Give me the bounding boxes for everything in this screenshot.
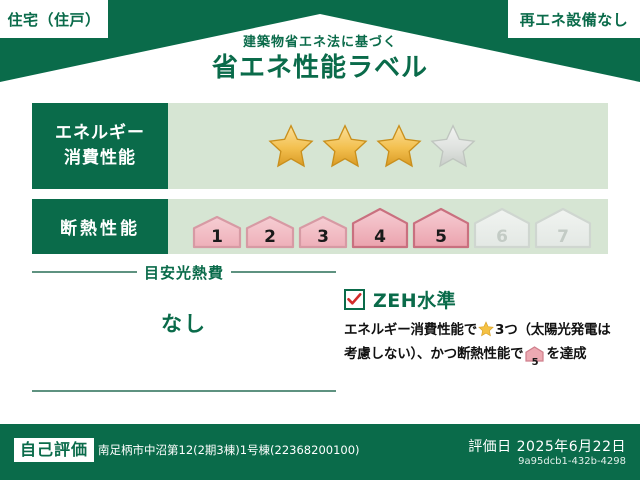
- renewable-energy-tag-label: 再エネ設備なし: [520, 9, 629, 30]
- inline-grade-badge: 5: [525, 346, 544, 369]
- energy-performance-label: 住宅（住戸） 再エネ設備なし 建築物省エネ法に基づく 省エネ性能ラベル エネルギ…: [0, 0, 640, 480]
- insulation-grade-value: 4: [351, 229, 409, 246]
- star-empty-icon: [430, 123, 476, 169]
- energy-performance-label-box: エネルギー 消費性能: [32, 103, 168, 189]
- utility-cost-bottom-rule: [32, 390, 336, 392]
- title-subtitle: 建築物省エネ法に基づく: [0, 36, 640, 50]
- page-title: 建築物省エネ法に基づく 省エネ性能ラベル: [0, 36, 640, 83]
- insulation-label: 断熱性能: [60, 214, 140, 239]
- insulation-grade-2: 2: [245, 215, 295, 249]
- insulation-performance-panel: 断熱性能 1234567: [32, 199, 608, 254]
- building-type-tag: 住宅（住戸）: [0, 0, 108, 38]
- star-filled-icon: [322, 123, 368, 169]
- insulation-grade-6: 6: [473, 207, 531, 249]
- insulation-grade-value: 2: [245, 229, 295, 246]
- energy-label-line2: 消費性能: [64, 146, 136, 171]
- insulation-grade-1: 1: [192, 215, 242, 249]
- renewable-energy-tag: 再エネ設備なし: [508, 0, 640, 38]
- self-evaluation-badge: 自己評価: [14, 438, 94, 462]
- insulation-grade-value: 5: [412, 229, 470, 246]
- heading-rule-left: [32, 271, 137, 273]
- zeh-desc-part1: エネルギー消費性能で: [344, 322, 477, 338]
- footer-bar: 自己評価 南足柄市中沼第12(2期3棟)1号棟(22368200100) 評価日…: [0, 424, 640, 480]
- zeh-checkbox: [344, 289, 365, 310]
- star-rating: [268, 123, 476, 169]
- insulation-grade-value: 7: [534, 229, 592, 246]
- zeh-heading: ZEH水準: [344, 286, 616, 313]
- insulation-grade-value: 1: [192, 229, 242, 246]
- utility-cost-heading-label: 目安光熱費: [144, 262, 224, 283]
- insulation-grade-scale: 1234567: [192, 199, 592, 254]
- insulation-grade-4: 4: [351, 207, 409, 249]
- insulation-grade-7: 7: [534, 207, 592, 249]
- title-main: 省エネ性能ラベル: [0, 54, 640, 83]
- zeh-title: ZEH水準: [373, 286, 456, 313]
- insulation-grade-value: 6: [473, 229, 531, 246]
- evaluation-id: 9a95dcb1-432b-4298: [518, 456, 626, 467]
- insulation-grade-3: 3: [298, 215, 348, 249]
- insulation-grade-value: 3: [298, 229, 348, 246]
- zeh-section: ZEH水準 エネルギー消費性能で 3つ（太陽光発電は考慮しない）、かつ断熱性能で…: [344, 286, 616, 369]
- heading-rule-right: [231, 271, 336, 273]
- zeh-description: エネルギー消費性能で 3つ（太陽光発電は考慮しない）、かつ断熱性能で 5 を達成: [344, 320, 616, 369]
- evaluation-date: 評価日 2025年6月22日: [468, 436, 626, 456]
- lower-content-area: 目安光熱費 なし ZEH水準 エネルギー消費性能で 3つ（太陽: [0, 258, 640, 424]
- insulation-grade-5: 5: [412, 207, 470, 249]
- insulation-performance-label-box: 断熱性能: [32, 199, 168, 254]
- zeh-desc-part3: を達成: [546, 346, 586, 362]
- energy-performance-panel: エネルギー 消費性能: [32, 103, 608, 189]
- inline-star-icon: [478, 321, 494, 344]
- star-filled-icon: [268, 123, 314, 169]
- energy-label-line1: エネルギー: [55, 121, 145, 146]
- utility-cost-heading: 目安光熱費: [32, 262, 336, 282]
- utility-cost-value: なし: [32, 308, 336, 338]
- star-filled-icon: [376, 123, 422, 169]
- building-type-tag-label: 住宅（住戸）: [7, 9, 100, 30]
- inline-grade-badge-value: 5: [525, 358, 544, 368]
- property-address: 南足柄市中沼第12(2期3棟)1号棟(22368200100): [98, 442, 360, 458]
